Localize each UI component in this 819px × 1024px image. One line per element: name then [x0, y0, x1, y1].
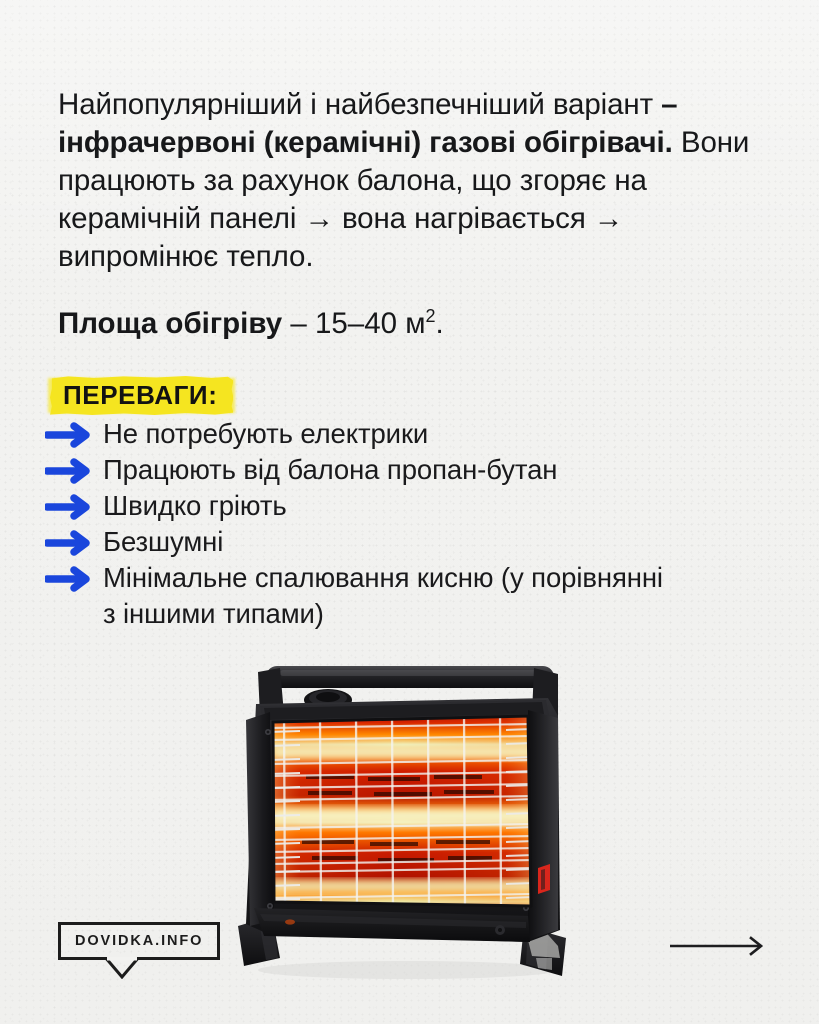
arrow-right-long-icon[interactable] — [668, 935, 768, 957]
slide-canvas: Найпопулярніший і найбезпечніший варіант… — [0, 0, 819, 1024]
speech-bubble-tail-icon — [105, 957, 139, 977]
heating-area-superscript: 2 — [426, 306, 436, 326]
footer-logo[interactable]: DOVIDKA.INFO — [58, 922, 220, 960]
list-item: Працюють від балона пропан-бутан — [45, 452, 745, 488]
heating-area-label: Площа обігріву — [58, 307, 282, 340]
brand-mark — [538, 864, 550, 894]
arrow-right-icon — [45, 416, 103, 452]
list-item: Мінімальне спалювання кисню (у порівнянн… — [45, 560, 745, 632]
arrow-right-icon — [45, 452, 103, 488]
logo-bubble: DOVIDKA.INFO — [58, 922, 220, 960]
intro-paragraph: Найпопулярніший і найбезпечніший варіант… — [58, 86, 788, 276]
arrow-right-icon — [45, 488, 103, 524]
advantages-heading: ПЕРЕВАГИ: — [52, 376, 229, 416]
arrow-right-icon — [45, 524, 103, 560]
heating-area-period: . — [436, 307, 444, 340]
list-item-label: Безшумні — [103, 524, 223, 560]
intro-text-part-1: Найпопулярніший і найбезпечніший варіант — [58, 88, 661, 121]
list-item-label: Швидко гріють — [103, 488, 287, 524]
list-item: Швидко гріють — [45, 488, 745, 524]
infrared-gas-heater-photo — [228, 658, 588, 993]
list-item: Безшумні — [45, 524, 745, 560]
heating-area-line: Площа обігріву – 15–40 м2. — [58, 305, 444, 343]
list-item-label: Мінімальне спалювання кисню (у порівнянн… — [103, 560, 663, 632]
list-item: Не потребують електрики — [45, 416, 745, 452]
logo-text: DOVIDKA.INFO — [75, 933, 203, 949]
advantages-heading-wrapper: ПЕРЕВАГИ: — [52, 376, 229, 416]
heating-area-value: – 15–40 м — [282, 307, 425, 340]
list-item-label: Не потребують електрики — [103, 416, 428, 452]
list-item-label: Працюють від балона пропан-бутан — [103, 452, 557, 488]
arrow-right-icon — [45, 560, 103, 596]
advantages-list: Не потребують електрики Працюють від бал… — [45, 416, 745, 632]
